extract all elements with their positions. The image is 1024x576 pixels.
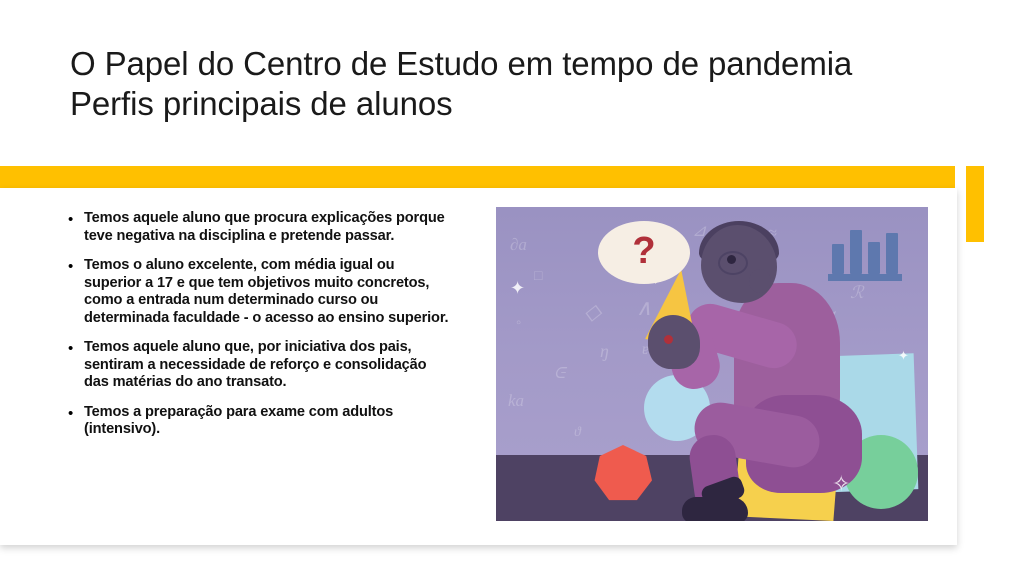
bar-chart-bar	[850, 230, 862, 274]
list-item: • Temos a preparação para exame com adul…	[68, 404, 450, 439]
wall-glyph-icon: ∂a	[510, 235, 527, 255]
list-item: • Temos o aluno excelente, com média igu…	[68, 257, 450, 327]
person-shoe	[682, 497, 748, 521]
bullet-text: Temos a preparação para exame com adulto…	[84, 404, 450, 439]
wall-glyph-icon: ᕮ	[554, 365, 565, 383]
wall-glyph-icon: ◇	[584, 299, 601, 325]
list-item: • Temos aquele aluno que, por iniciativa…	[68, 339, 450, 392]
bullet-text: Temos aquele aluno que procura explicaçõ…	[84, 210, 450, 245]
bar-chart-baseline	[828, 274, 902, 281]
wall-glyph-icon: ℛ	[850, 283, 864, 303]
list-item: • Temos aquele aluno que procura explica…	[68, 210, 450, 245]
page-title: O Papel do Centro de Estudo em tempo de …	[70, 44, 950, 124]
accent-bar-right	[966, 166, 984, 242]
slide-root: O Papel do Centro de Estudo em tempo de …	[0, 0, 1024, 576]
sparkle-icon: ✦	[898, 349, 909, 362]
person-ear	[749, 269, 771, 293]
sparkle-icon: ✧	[832, 473, 850, 495]
wall-glyph-icon: ka	[508, 391, 524, 411]
wall-glyph-icon: ϑ	[574, 425, 581, 441]
illustration-image: ∂a □ ◇ ∧ ⊿ ≈ ↯ ℛ ⅇ ka ŋ ɐ ◦ ϑ ꝏ ᕮ	[496, 207, 928, 521]
sparkle-icon: ✦	[510, 279, 525, 297]
bar-chart-icon	[828, 225, 902, 281]
triangle-dot	[664, 335, 673, 344]
bullet-marker-icon: •	[68, 210, 84, 229]
bullet-marker-icon: •	[68, 339, 84, 358]
wall-glyph-icon: ◦	[516, 315, 521, 332]
bar-chart-bar	[832, 244, 844, 274]
title-line-1: O Papel do Centro de Estudo em tempo de …	[70, 44, 950, 84]
bullet-text: Temos o aluno excelente, com média igual…	[84, 257, 450, 327]
bullet-marker-icon: •	[68, 257, 84, 276]
bullet-marker-icon: •	[68, 404, 84, 423]
question-mark-icon: ?	[598, 219, 690, 282]
bar-chart-bar	[868, 242, 880, 274]
wall-glyph-icon: ŋ	[600, 341, 609, 362]
person-eye	[727, 255, 736, 264]
bullet-text: Temos aquele aluno que, por iniciativa d…	[84, 339, 450, 392]
wall-glyph-icon: □	[534, 269, 542, 285]
accent-band	[0, 166, 955, 188]
title-line-2: Perfis principais de alunos	[70, 84, 950, 124]
bar-chart-bar	[886, 233, 898, 274]
person-hand	[648, 315, 700, 369]
bullet-list: • Temos aquele aluno que procura explica…	[68, 210, 450, 451]
